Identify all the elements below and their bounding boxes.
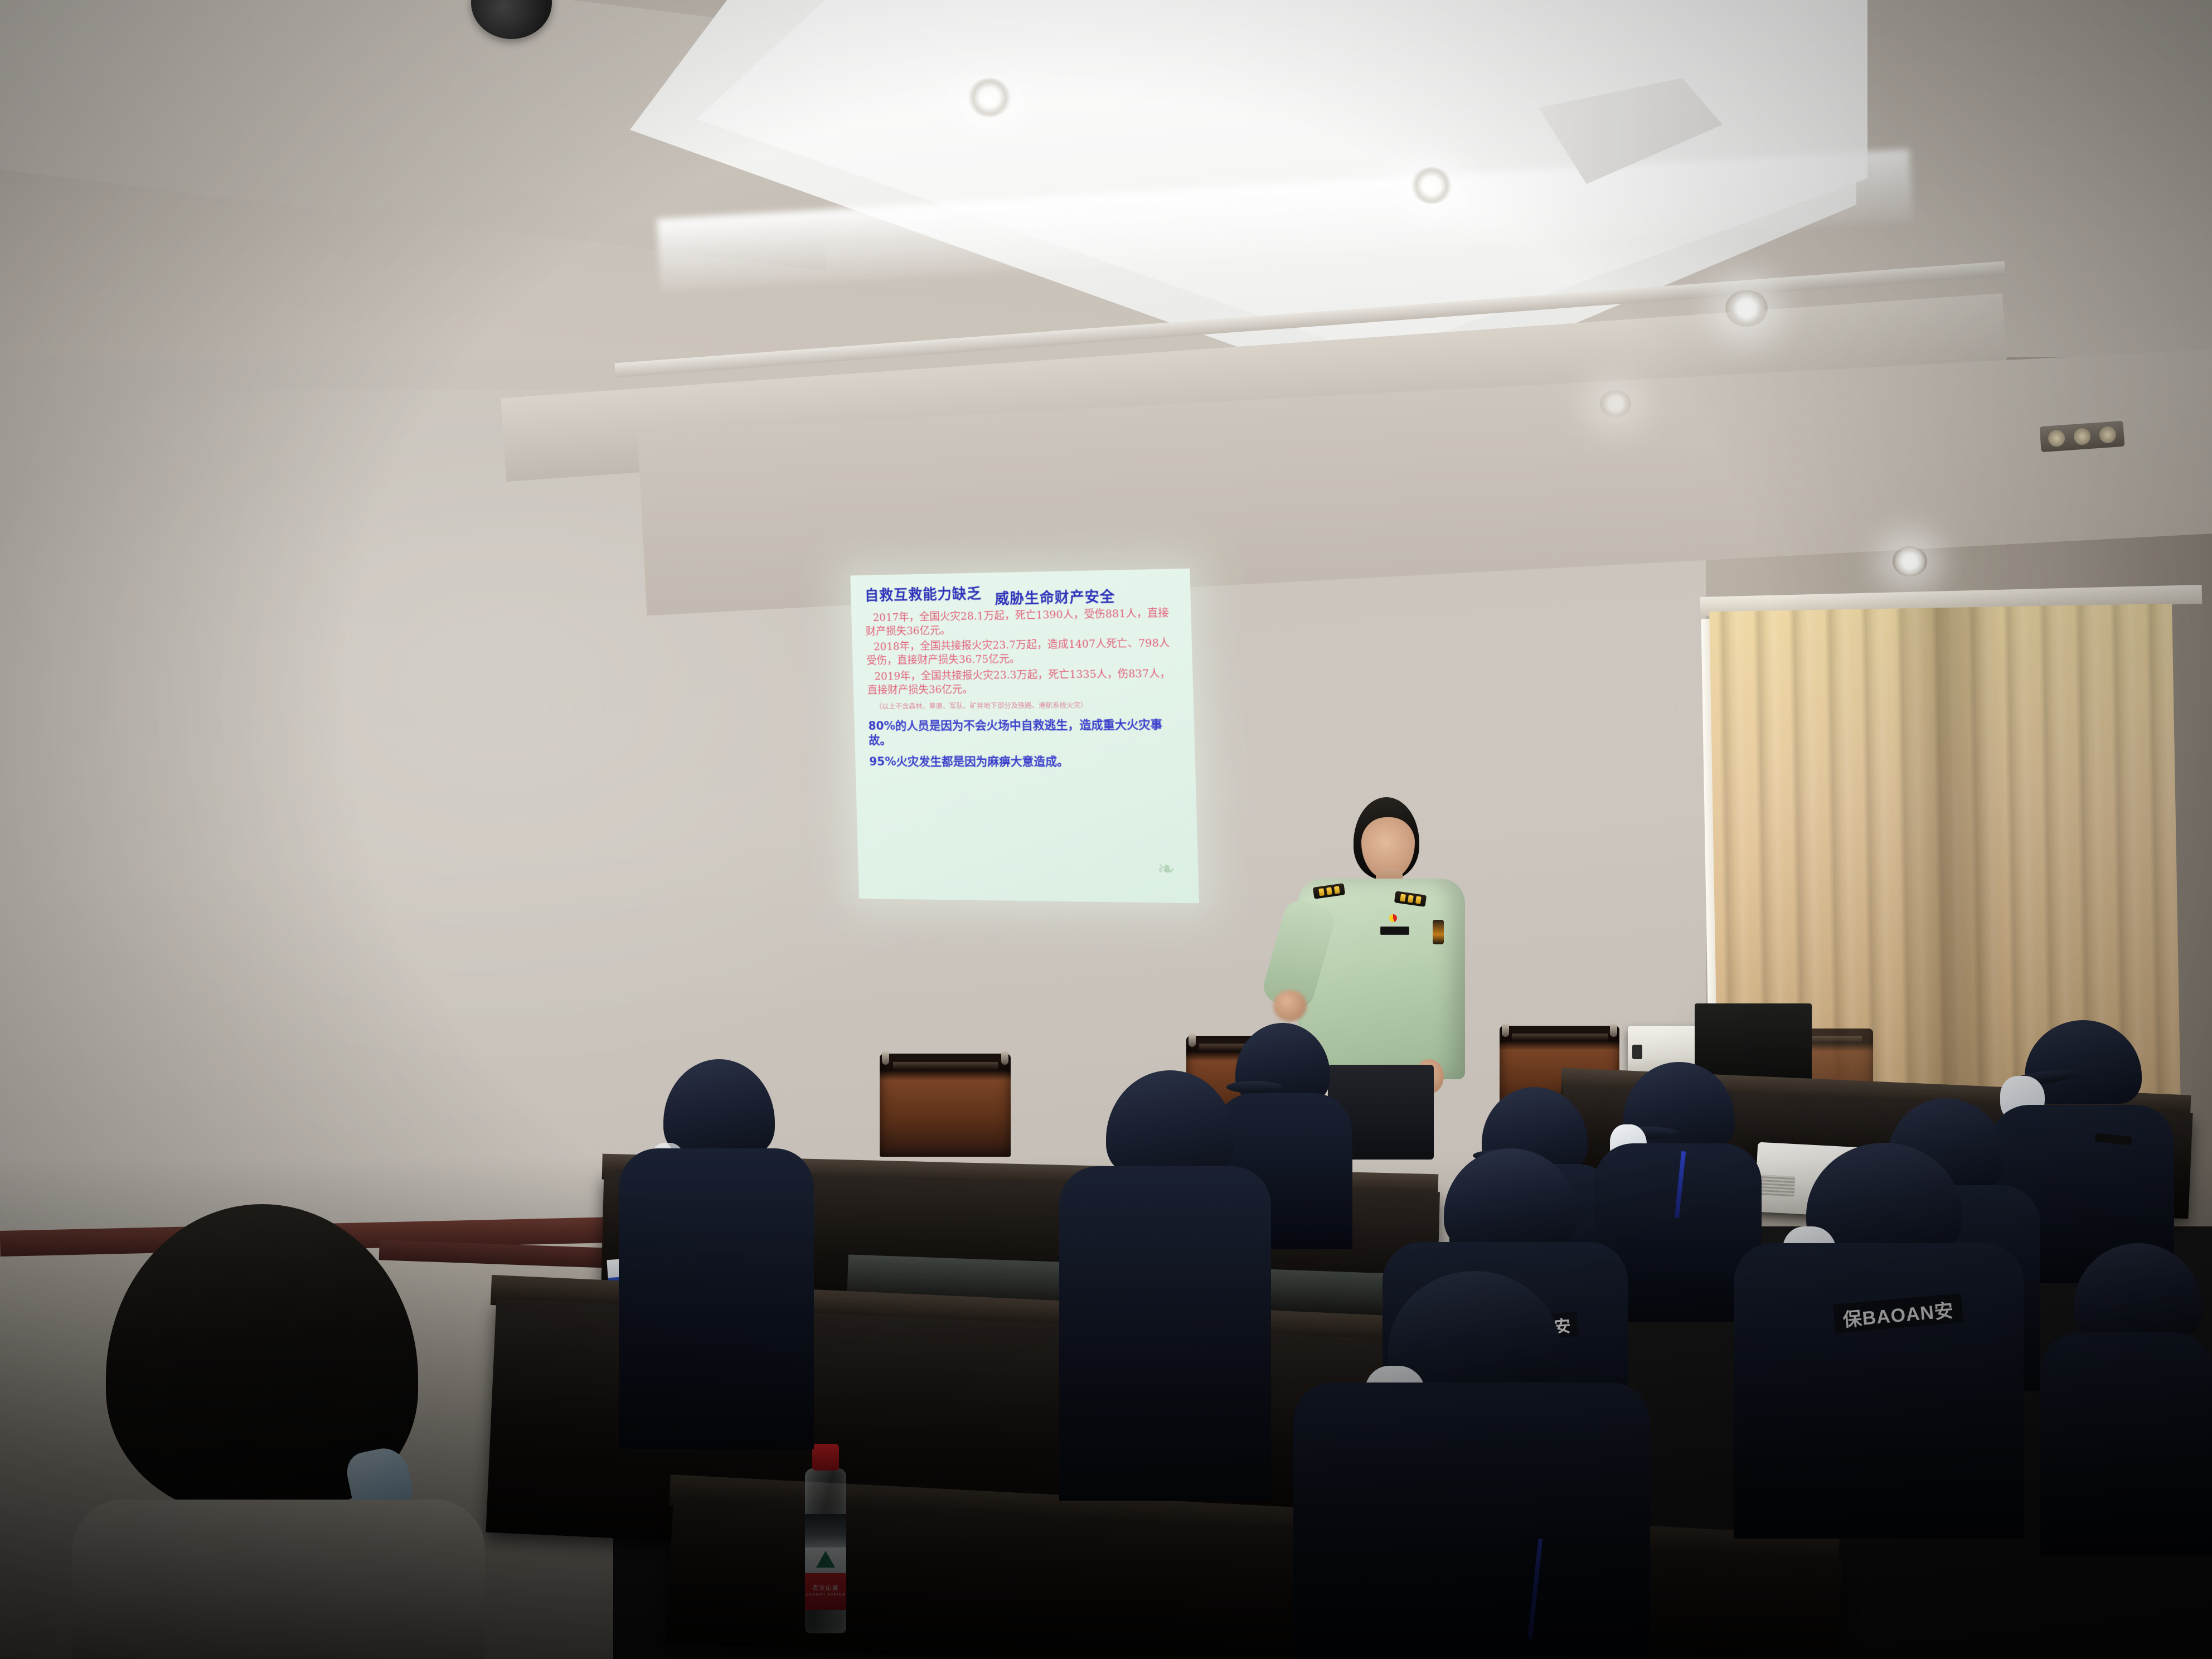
rank-stripe	[1326, 887, 1332, 895]
slide-highlight-80-pct: 80%	[868, 719, 895, 733]
slide-highlight-95-text: 火灾发生都是因为麻痹大意造成。	[896, 755, 1069, 768]
attendee-front-right	[1293, 1271, 1650, 1659]
attendee-body	[1734, 1243, 2024, 1539]
attendee-cap-8	[2040, 1243, 2212, 1555]
downlight-5	[1600, 390, 1631, 417]
rank-stripe	[1334, 886, 1340, 894]
bottle-cap	[812, 1444, 839, 1471]
slide-stat-2018: 2018年，全国共接报火灾23.7万起，造成1407人死亡、798人受伤，直接财…	[866, 637, 1180, 668]
downlight-2	[1410, 167, 1453, 204]
presenter-nametag	[1380, 926, 1409, 935]
attendee-front-left	[72, 1204, 485, 1659]
attendee-cap-icon	[663, 1059, 775, 1154]
chair-post	[1610, 1022, 1617, 1037]
rank-stripe	[1415, 896, 1422, 904]
conference-room-photo: 自救互救能力缺乏 威胁生命财产安全 2017年，全国火灾28.1万起，死亡139…	[0, 0, 2212, 1659]
slide-title-right: 威胁生命财产安全	[995, 589, 1115, 607]
chair-post	[1189, 1032, 1196, 1047]
attendee-cap-icon	[2074, 1243, 2202, 1338]
attendee-cap-front-left	[619, 1059, 814, 1449]
spot-lamp	[2099, 426, 2117, 444]
presenter-left-hand	[1273, 990, 1307, 1021]
slide-title: 自救互救能力缺乏 威胁生命财产安全	[865, 583, 1178, 609]
bottle-brand-latin: NONGFU SPRING	[802, 1593, 850, 1597]
chair-back-1[interactable]	[880, 1054, 1011, 1157]
slide-highlight-95-pct: 95%	[869, 755, 896, 769]
attendee-body	[1293, 1382, 1650, 1659]
bottle-label-top	[805, 1514, 846, 1552]
slide-watermark-icon: ❧	[1157, 858, 1190, 895]
rank-stripe	[1318, 888, 1325, 896]
attendee-body	[1059, 1166, 1271, 1501]
rank-stripe	[1400, 894, 1406, 902]
slide-footnote: （以上不含森林、草原、军队、矿井地下部分及铁路、港航系统火灾）	[875, 700, 1181, 711]
downlight-3	[1725, 290, 1768, 327]
attendee-cap-7: 保BAOAN安	[1734, 1143, 2024, 1533]
slide-highlight-95: 95%火灾发生都是因为麻痹大意造成。	[869, 755, 1183, 769]
uniform-badge-pin	[1389, 914, 1397, 922]
case-latch	[1632, 1045, 1642, 1059]
chair-post	[882, 1050, 889, 1065]
attendee-cap-front-mid	[1059, 1070, 1271, 1494]
attendee-cap-icon	[1444, 1148, 1578, 1249]
chair-backrest	[880, 1054, 1011, 1157]
slide-highlight-80-text: 的人员是因为不会火场中自救逃生，造成重大火灾事故。	[869, 718, 1162, 747]
rank-stripe	[1408, 895, 1414, 903]
bottle-brand-cn: 农夫山泉	[802, 1583, 850, 1592]
chair-post	[1502, 1022, 1509, 1037]
attendee-body	[2040, 1332, 2212, 1555]
slide-stat-2017: 2017年，全国火灾28.1万起，死亡1390人，受伤881人，直接财产损失36…	[865, 606, 1179, 638]
spot-lamp	[2048, 429, 2065, 447]
attendee-body	[619, 1148, 814, 1449]
slide-stat-2019: 2019年，全国共接报火灾23.3万起，死亡1335人，伤837人，直接财产损失…	[867, 667, 1181, 697]
water-bottle[interactable]: 农夫山泉 NONGFU SPRING	[802, 1444, 850, 1633]
spot-lamp	[2073, 428, 2091, 445]
downlight-4	[1893, 546, 1927, 576]
projection-screen[interactable]: 自救互救能力缺乏 威胁生命财产安全 2017年，全国火灾28.1万起，死亡139…	[850, 569, 1199, 903]
slide-highlight-80: 80%的人员是因为不会火场中自救逃生，造成重大火灾事故。	[868, 718, 1182, 748]
attendee-cap-icon	[1106, 1070, 1234, 1173]
shoulder-patch-icon	[1433, 920, 1444, 944]
bottle-mountain-icon	[816, 1551, 835, 1568]
slide-title-left: 自救互救能力缺乏	[865, 586, 982, 609]
downlight-1	[967, 78, 1012, 117]
attendee-body	[72, 1500, 485, 1659]
chair-post	[1001, 1050, 1008, 1065]
